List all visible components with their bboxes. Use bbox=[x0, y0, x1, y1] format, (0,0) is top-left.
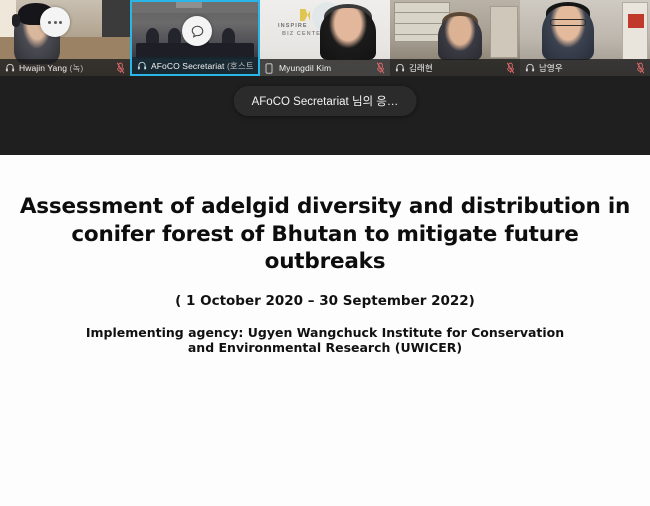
video-tile-kim-raehyun[interactable]: 김래현 bbox=[390, 0, 520, 76]
mic-muted-icon bbox=[506, 62, 515, 74]
video-tile-myungdil-kim[interactable]: INSPIRE BIZ CENTER Myungdil Kim bbox=[260, 0, 390, 76]
mic-muted-icon bbox=[376, 62, 385, 74]
phone-icon bbox=[265, 63, 275, 73]
participant-name: Myungdil Kim bbox=[279, 63, 331, 73]
mic-muted-icon bbox=[116, 62, 125, 74]
participant-name: Hwajin Yang (녹) bbox=[19, 62, 83, 74]
mic-muted-icon bbox=[636, 62, 645, 74]
slide-period: ( 1 October 2020 – 30 September 2022) bbox=[0, 293, 650, 309]
headset-icon bbox=[395, 63, 405, 73]
tile-name-bar: Hwajin Yang (녹) bbox=[0, 59, 130, 76]
participant-name: AFoCO Secretariat (호스트) bbox=[151, 60, 253, 72]
participant-name: 김래현 bbox=[409, 62, 433, 74]
participant-filmstrip: Hwajin Yang (녹) AFoCO Secretariat bbox=[0, 0, 650, 76]
headset-icon bbox=[5, 63, 15, 73]
notification-toast[interactable]: AFoCO Secretariat 님의 응… bbox=[234, 86, 417, 116]
slide-title: Assessment of adelgid diversity and dist… bbox=[16, 193, 634, 276]
slide-implementing-agency: Implementing agency: Ugyen Wangchuck Ins… bbox=[75, 325, 575, 356]
tile-name-bar: AFoCO Secretariat (호스트) bbox=[132, 57, 258, 74]
tile-name-bar: Myungdil Kim bbox=[260, 59, 390, 76]
participant-name: 남영우 bbox=[539, 62, 563, 74]
video-tile-afoco-secretariat[interactable]: AFoCO Secretariat (호스트) bbox=[130, 0, 260, 76]
more-options-icon[interactable] bbox=[40, 7, 70, 37]
tile-name-bar: 김래현 bbox=[390, 59, 520, 76]
chat-bubble-icon[interactable] bbox=[182, 16, 212, 46]
shared-screen-slide: Assessment of adelgid diversity and dist… bbox=[0, 155, 650, 506]
tile-name-bar: 남영우 bbox=[520, 59, 650, 76]
headset-icon bbox=[525, 63, 535, 73]
inspire-logo-line1: INSPIRE bbox=[278, 23, 308, 29]
video-tile-hwajin-yang[interactable]: Hwajin Yang (녹) bbox=[0, 0, 130, 76]
zoom-meeting-window: Hwajin Yang (녹) AFoCO Secretariat bbox=[0, 0, 650, 506]
headset-icon bbox=[137, 61, 147, 71]
video-tile-nam-youngwoo[interactable]: 남영우 bbox=[520, 0, 650, 76]
